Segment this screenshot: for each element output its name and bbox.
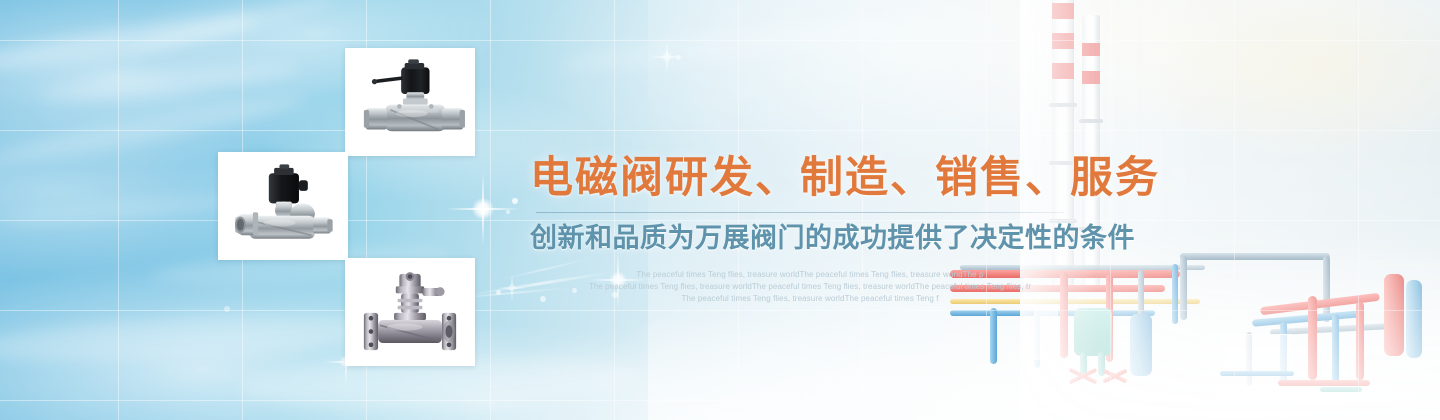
microcopy-line-2: The peaceful times Teng flies, treasure … [530, 281, 1090, 293]
product-photo-threaded-solenoid-valve [225, 159, 341, 253]
product-tile-1[interactable] [345, 48, 475, 156]
banner-copy-block: 电磁阀研发、制造、销售、服务 创新和品质为万展阀门的成功提供了决定性的条件 Th… [530, 150, 1150, 305]
banner-subheadline: 创新和品质为万展阀门的成功提供了决定性的条件 [530, 221, 1150, 255]
hero-banner: 电磁阀研发、制造、销售、服务 创新和品质为万展阀门的成功提供了决定性的条件 Th… [0, 0, 1440, 420]
product-photo-flanged-solenoid-valve [352, 265, 468, 359]
product-tile-3[interactable] [345, 258, 475, 366]
microcopy-line-1: The peaceful times Teng flies, treasure … [586, 269, 1034, 281]
microcopy-line-3: The peaceful times Teng flies, treasure … [617, 293, 1003, 305]
banner-headline: 电磁阀研发、制造、销售、服务 [530, 150, 1150, 206]
product-tile-2[interactable] [218, 152, 348, 260]
product-photo-inline-solenoid-valve [352, 55, 468, 149]
banner-microcopy: The peaceful times Teng flies, treasure … [530, 269, 1090, 305]
headline-divider [536, 212, 1064, 213]
